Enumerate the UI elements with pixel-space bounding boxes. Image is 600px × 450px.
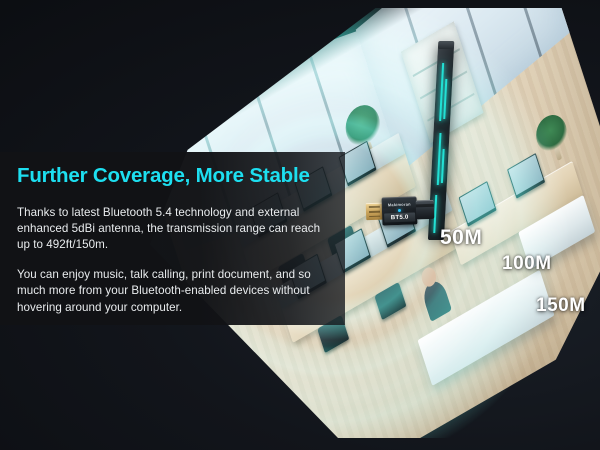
range-label-50m: 50M [440,226,482,250]
antenna-connector-barrel [416,200,435,220]
headline: Further Coverage, More Stable [17,165,329,188]
range-label-150m: 150M [536,295,586,317]
body-paragraph-2: You can enjoy music, talk calling, print… [17,267,329,316]
range-label-100m: 100M [502,253,552,275]
dongle-brand-label: Makimoran [383,199,416,208]
dongle-led-indicator [398,209,401,212]
product-feature-banner: Makimoran BT5.0 50M 100M 150M Further Co… [0,0,600,450]
marketing-text-panel: Further Coverage, More Stable Thanks to … [0,152,345,325]
dongle-version-label: BT5.0 [384,212,415,222]
usb-a-connector-icon [366,203,384,221]
bluetooth-usb-dongle: Makimoran BT5.0 [365,195,432,227]
body-paragraph-1: Thanks to latest Bluetooth 5.4 technolog… [17,205,329,254]
antenna-cap [438,41,454,49]
